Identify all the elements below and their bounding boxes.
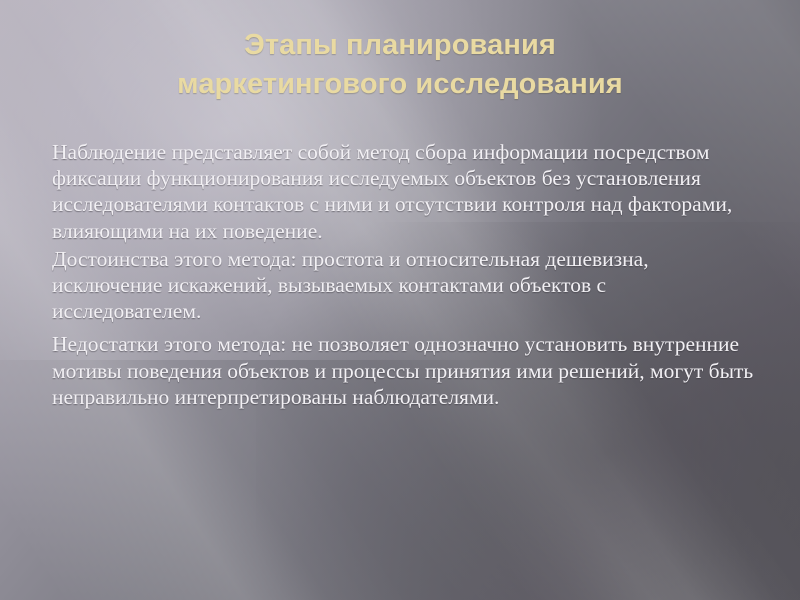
slide-title-line-2: маркетингового исследования — [60, 65, 740, 104]
slide-content: Этапы планирования маркетингового исслед… — [0, 0, 800, 600]
body-paragraph-disadvantages: Недостатки этого метода: не позволяет од… — [52, 331, 758, 410]
slide-body: Наблюдение представляет собой метод сбор… — [52, 139, 758, 410]
body-paragraph-definition: Наблюдение представляет собой метод сбор… — [52, 139, 758, 244]
slide-title: Этапы планирования маркетингового исслед… — [60, 26, 740, 104]
presentation-slide: Этапы планирования маркетингового исслед… — [0, 0, 800, 600]
body-paragraph-advantages: Достоинства этого метода: простота и отн… — [52, 246, 758, 325]
slide-title-line-1: Этапы планирования — [60, 26, 740, 65]
